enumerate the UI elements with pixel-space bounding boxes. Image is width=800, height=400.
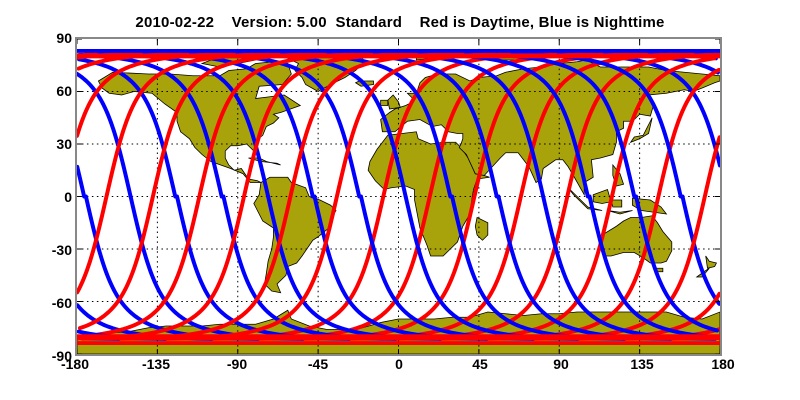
x-tick-label: 0 xyxy=(369,357,429,371)
x-tick-label: -180 xyxy=(45,357,105,371)
x-tick-label: 45 xyxy=(450,357,510,371)
x-tick-label: -45 xyxy=(288,357,348,371)
y-tick-label: 90 xyxy=(12,31,72,45)
chart-title: 2010-02-22 Version: 5.00 Standard Red is… xyxy=(0,14,800,31)
y-tick-label: 30 xyxy=(12,137,72,151)
x-tick-label: 135 xyxy=(612,357,672,371)
y-tick-label: -30 xyxy=(12,243,72,257)
x-tick-label: -135 xyxy=(126,357,186,371)
x-tick-label: 180 xyxy=(693,357,753,371)
x-tick-label: 90 xyxy=(531,357,591,371)
y-tick-label: 60 xyxy=(12,84,72,98)
y-tick-label: 0 xyxy=(12,190,72,204)
plot-figure: 2010-02-22 Version: 5.00 Standard Red is… xyxy=(0,0,800,400)
plot-area xyxy=(75,37,722,356)
x-tick-label: -90 xyxy=(207,357,267,371)
map-orbit-canvas xyxy=(77,39,720,354)
y-tick-label: -60 xyxy=(12,296,72,310)
